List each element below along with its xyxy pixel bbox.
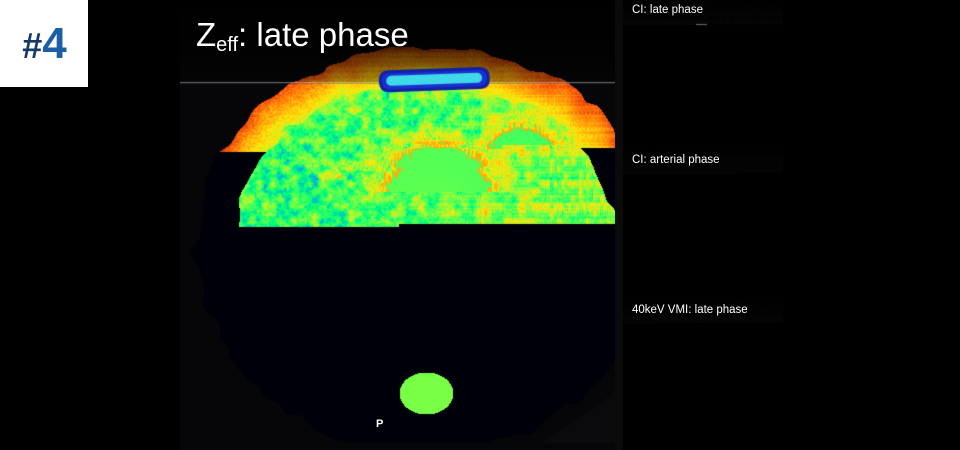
ct-comparison-column: CI: late phase CI: arterial phase 40keV …: [623, 0, 789, 450]
ct-label-late-phase: CI: late phase: [632, 4, 703, 16]
background-left-fill: [0, 87, 180, 450]
ct-arterial-phase-canvas: [623, 150, 789, 300]
slide-root: # 4 Zeff: late phase P CI: late phase CI…: [0, 0, 960, 450]
hash-symbol: #: [22, 28, 41, 64]
case-number-value: 4: [42, 22, 65, 66]
zeff-image-panel[interactable]: Zeff: late phase P: [180, 0, 615, 450]
ct-panel-late-phase[interactable]: CI: late phase: [623, 0, 789, 150]
ct-label-vmi-late-phase: 40keV VMI: late phase: [632, 304, 748, 316]
background-right-fill: [789, 0, 960, 450]
zeff-title-prefix: Z: [196, 16, 216, 53]
panel-gap-divider: [615, 0, 623, 450]
ct-panel-arterial-phase[interactable]: CI: arterial phase: [623, 150, 789, 300]
zeff-panel-title: Zeff: late phase: [196, 18, 409, 51]
orientation-marker-posterior: P: [376, 418, 383, 430]
ct-label-arterial-phase: CI: arterial phase: [632, 154, 720, 166]
background-top-left-fill: [88, 0, 180, 87]
ct-panel-vmi-late-phase[interactable]: 40keV VMI: late phase: [623, 300, 789, 450]
ct-vmi-late-phase-canvas: [623, 300, 789, 450]
case-number-text: # 4: [22, 22, 66, 66]
case-number-badge: # 4: [0, 0, 88, 87]
ct-late-phase-canvas: [623, 0, 789, 150]
zeff-title-subscript: eff: [216, 34, 238, 56]
zeff-title-suffix: : late phase: [238, 16, 409, 53]
zeff-map-canvas: [180, 0, 615, 450]
